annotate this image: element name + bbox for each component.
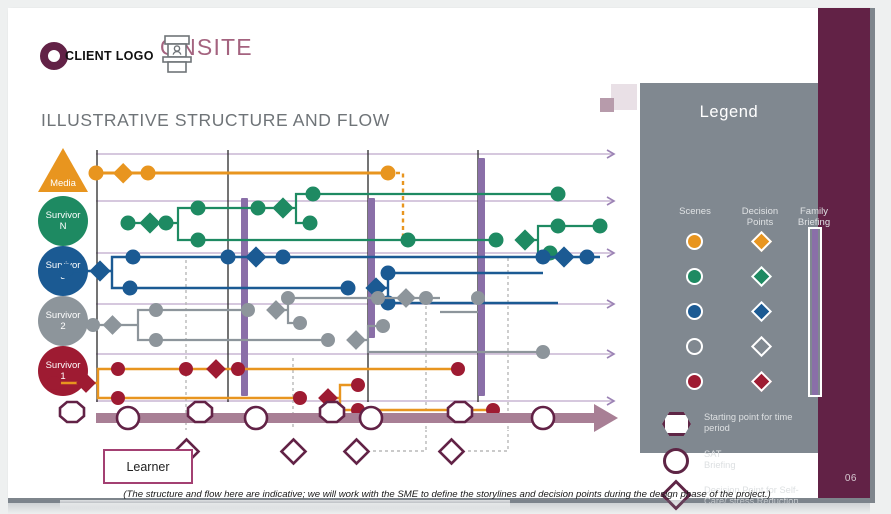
circle-icon xyxy=(660,445,694,475)
legend-family-briefing-bar xyxy=(808,227,822,397)
onsite-brand: ONSITE xyxy=(160,34,253,61)
lane-survivor-3-track xyxy=(59,247,600,310)
lane-survivor-n-track xyxy=(121,187,607,260)
decorative-square-mauve xyxy=(600,98,614,112)
timeline-decision-points xyxy=(174,430,508,464)
legend-scene-survivor-n xyxy=(686,268,703,285)
legend-item-label: SATBriefing xyxy=(704,449,736,472)
structure-flow-diagram: Media Survivor N Survivor 3 Survivor 2 S… xyxy=(38,140,628,435)
legend-decision-survivor-2 xyxy=(751,336,772,357)
timeline-hexagon xyxy=(448,402,472,422)
legend-title: Legend xyxy=(640,103,818,122)
legend-col-scenes: Scenes xyxy=(668,206,722,217)
podium-icon xyxy=(160,34,194,74)
timeline-hexagon xyxy=(60,402,84,422)
legend-decision-survivor-n xyxy=(751,266,772,287)
client-logo: CLIENT LOGO xyxy=(40,42,154,70)
legend-col-decision: DecisionPoints xyxy=(733,206,787,228)
legend-item-label: Starting point for time period xyxy=(704,412,810,435)
lane-rules xyxy=(96,154,613,401)
legend-decision-media xyxy=(751,231,772,252)
timeline-circle xyxy=(360,407,382,429)
ring-logo-icon xyxy=(40,42,68,70)
hexagon-icon xyxy=(660,408,694,438)
timeline-circle xyxy=(117,407,139,429)
slide: 06 CLIENT LOGO ONSITE ILLUSTRATIVE STRUC… xyxy=(8,8,870,498)
lane-rule-arrowheads xyxy=(607,150,614,405)
flow-canvas xyxy=(38,140,638,440)
legend-decision-survivor-1 xyxy=(751,371,772,392)
legend-item-sat-briefing: SATBriefing xyxy=(660,445,810,475)
page-title: ILLUSTRATIVE STRUCTURE AND FLOW xyxy=(41,110,390,131)
page-number: 06 xyxy=(845,473,857,484)
legend-panel: Legend Scenes DecisionPoints FamilyBrief… xyxy=(640,83,818,453)
legend-scene-survivor-1 xyxy=(686,373,703,390)
section-dividers xyxy=(97,150,478,402)
legend-col-family: FamilyBriefing xyxy=(785,206,843,228)
decorative-square-light xyxy=(611,84,637,110)
legend-decision-survivor-3 xyxy=(751,301,772,322)
learner-box: Learner xyxy=(103,449,193,484)
slide-caption: (The structure and flow here are indicat… xyxy=(94,489,800,500)
slide-edge-right xyxy=(870,8,875,503)
legend-scene-media xyxy=(686,233,703,250)
right-color-band xyxy=(818,8,870,498)
lane-survivor-1-track xyxy=(47,359,500,417)
timeline-circle xyxy=(532,407,554,429)
legend-item-starting-point: Starting point for time period xyxy=(660,408,810,438)
client-logo-label: CLIENT LOGO xyxy=(65,49,154,63)
timeline-hexagon xyxy=(188,402,212,422)
learner-label: Learner xyxy=(126,460,169,474)
legend-scene-survivor-2 xyxy=(686,338,703,355)
timeline-hexagon xyxy=(320,402,344,422)
legend-scene-survivor-3 xyxy=(686,303,703,320)
slide-reflection-highlight xyxy=(60,500,510,509)
timeline-circle xyxy=(245,407,267,429)
